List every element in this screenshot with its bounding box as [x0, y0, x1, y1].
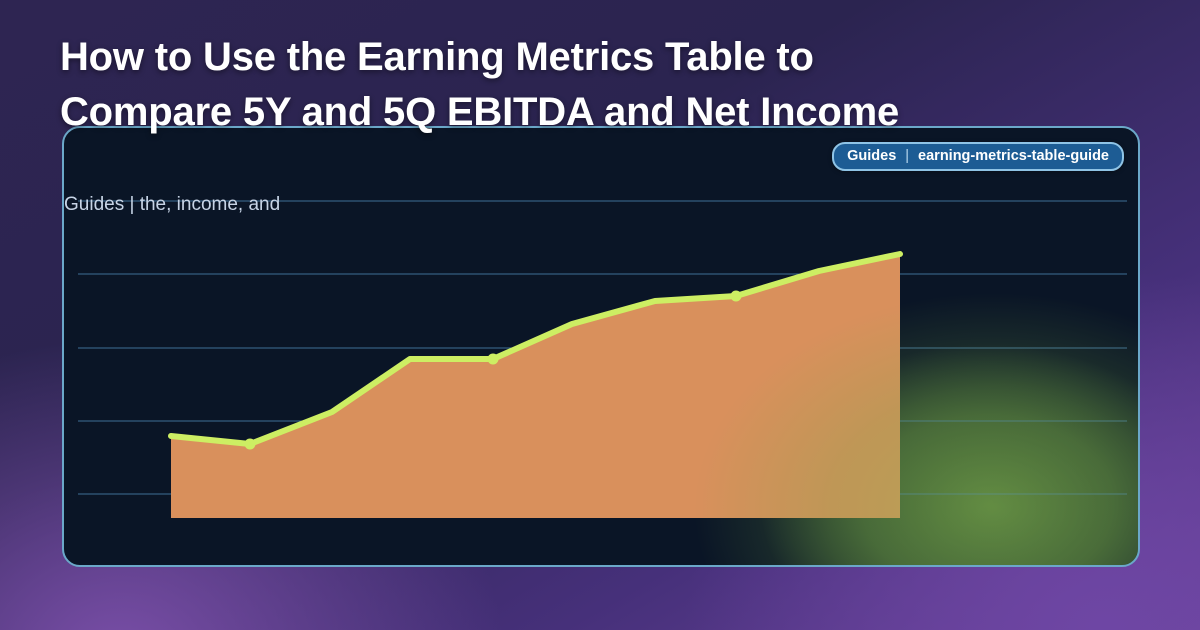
data-point-marker [731, 291, 742, 302]
badge-separator: | [905, 148, 909, 164]
breadcrumb-badge[interactable]: Guides | earning-metrics-table-guide [832, 142, 1124, 171]
page-title: How to Use the Earning Metrics Table to … [60, 30, 960, 140]
preview-card: Guides | the, income, and Guides | earni… [62, 126, 1140, 567]
data-point-marker [245, 439, 256, 450]
badge-slug: earning-metrics-table-guide [918, 148, 1109, 164]
card-subtitle: Guides | the, income, and [64, 194, 280, 216]
headline-container: How to Use the Earning Metrics Table to … [60, 30, 960, 140]
area-series-fill [171, 254, 900, 518]
badge-category: Guides [847, 148, 896, 164]
data-point-marker [488, 354, 499, 365]
